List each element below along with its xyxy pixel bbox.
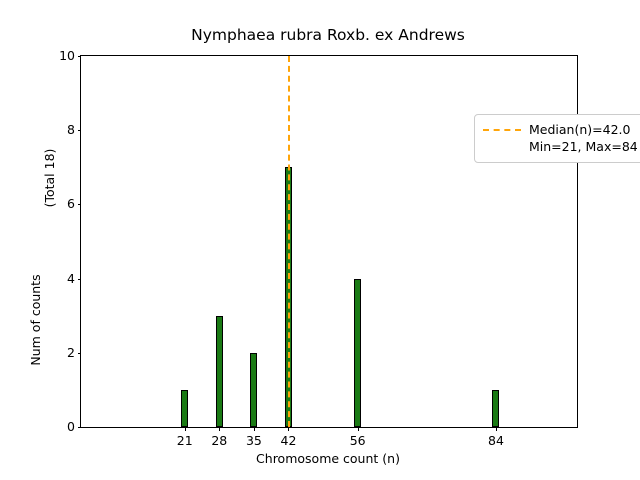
ytick-mark: [78, 279, 82, 280]
y-axis-label: Num of counts: [29, 240, 43, 400]
chart-legend: Median(n)=42.0 Min=21, Max=84: [474, 114, 640, 163]
ytick-mark: [78, 353, 82, 354]
xtick-label-84: 84: [488, 434, 504, 448]
legend-entry-minmax: Min=21, Max=84: [483, 138, 640, 155]
xtick-mark: [185, 427, 186, 431]
ytick-label-2: 2: [67, 347, 75, 360]
x-axis-label: Chromosome count (n): [80, 452, 576, 466]
ytick-mark: [78, 427, 82, 428]
ytick-label-8: 8: [67, 124, 75, 137]
xtick-label-21: 21: [177, 434, 193, 448]
legend-entry-median: Median(n)=42.0: [483, 121, 640, 138]
ytick-mark: [78, 56, 82, 57]
xtick-mark: [288, 427, 289, 431]
legend-label-median: Median(n)=42.0: [529, 121, 630, 138]
bar-84: [492, 390, 499, 427]
xtick-mark: [219, 427, 220, 431]
y-axis-label-secondary: (Total 18): [43, 118, 57, 238]
dashed-line-icon: [483, 129, 521, 131]
bar-21: [181, 390, 188, 427]
plot-area: 0246810 212835425684 Median(n)=42.0 Min=…: [80, 55, 578, 428]
ytick-label-10: 10: [59, 50, 75, 63]
xtick-mark: [254, 427, 255, 431]
ytick-label-6: 6: [67, 198, 75, 211]
chart-figure: Nymphaea rubra Roxb. ex Andrews 0246810 …: [0, 0, 640, 480]
xtick-label-56: 56: [350, 434, 366, 448]
chart-title: Nymphaea rubra Roxb. ex Andrews: [80, 26, 576, 44]
ytick-mark: [78, 204, 82, 205]
median-vline: [288, 56, 290, 427]
ytick-label-0: 0: [67, 421, 75, 434]
xtick-mark: [496, 427, 497, 431]
xtick-label-35: 35: [246, 434, 262, 448]
legend-label-minmax: Min=21, Max=84: [529, 138, 638, 155]
ytick-label-4: 4: [67, 272, 75, 285]
xtick-label-28: 28: [211, 434, 227, 448]
xtick-label-42: 42: [281, 434, 297, 448]
ytick-mark: [78, 130, 82, 131]
plot-drawing-layer: [81, 56, 577, 427]
xtick-mark: [358, 427, 359, 431]
bar-56: [354, 279, 361, 427]
bar-28: [216, 316, 223, 427]
bar-35: [250, 353, 257, 427]
